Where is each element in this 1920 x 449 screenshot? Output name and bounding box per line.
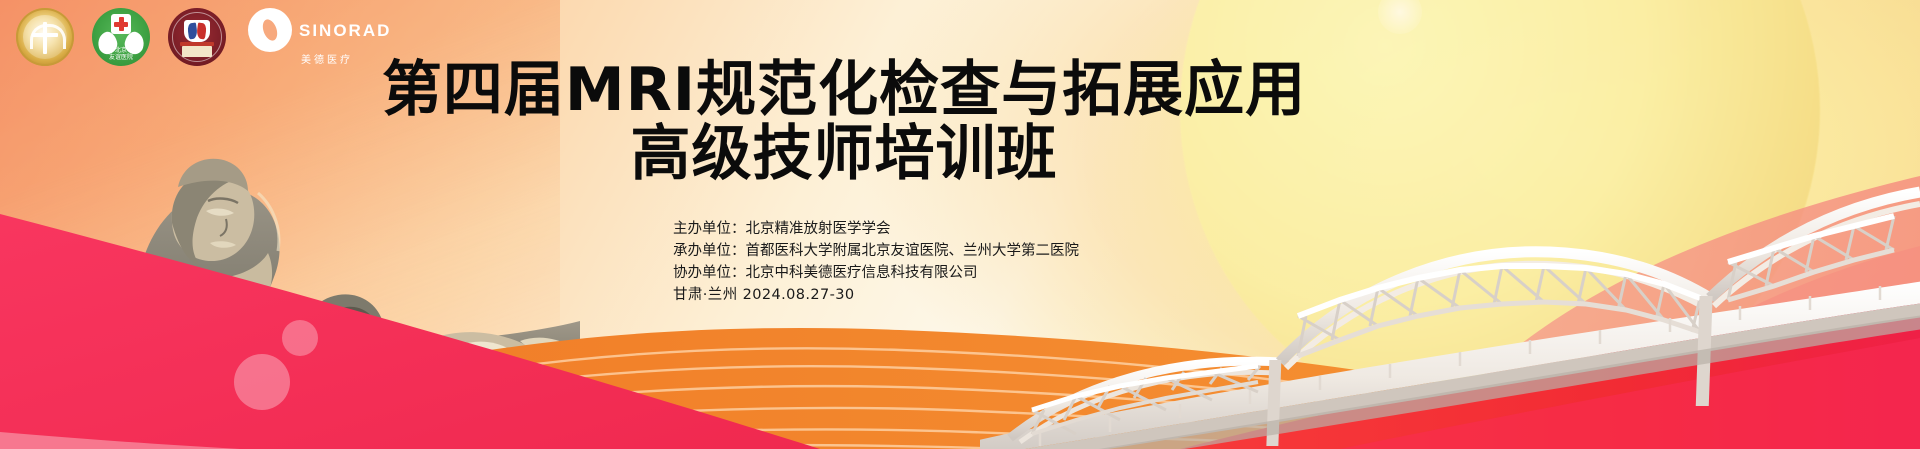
detail-co-organizer: 协办单位：北京中科美德医疗信息科技有限公司 <box>673 262 1079 284</box>
detail-host-organizer: 主办单位：北京精准放射医学学会 <box>673 218 1079 240</box>
zhongshan-bridge-illustration <box>980 170 1920 449</box>
sinorad-wordmark: SINORAD <box>299 22 391 39</box>
sponsor-logo-strip: 北京 友谊医院 SINORAD 美德医疗 <box>16 8 391 66</box>
hospital-logo-label-line2: 友谊医院 <box>92 55 150 62</box>
detail-location-and-date: 甘肃·兰州 2024.08.27-30 <box>673 284 1079 306</box>
beijing-precision-radiology-society-logo <box>16 8 74 66</box>
sinorad-logo: SINORAD 美德医疗 <box>248 8 391 66</box>
detail-undertaking-organizer: 承办单位：首都医科大学附属北京友谊医院、兰州大学第二医院 <box>673 240 1079 262</box>
conference-banner: 北京 友谊医院 SINORAD 美德医疗 第四届MRI规范化检查与拓展应 <box>0 0 1920 449</box>
mogao-grotto-buddha-illustration <box>20 95 580 395</box>
sinorad-eye-icon <box>248 8 292 52</box>
conference-details: 主办单位：北京精准放射医学学会 承办单位：首都医科大学附属北京友谊医院、兰州大学… <box>673 218 1079 306</box>
beijing-friendship-hospital-logo: 北京 友谊医院 <box>92 8 150 66</box>
lanzhou-university-second-hospital-logo <box>168 8 226 66</box>
sinorad-chinese-name: 美德医疗 <box>301 56 353 66</box>
